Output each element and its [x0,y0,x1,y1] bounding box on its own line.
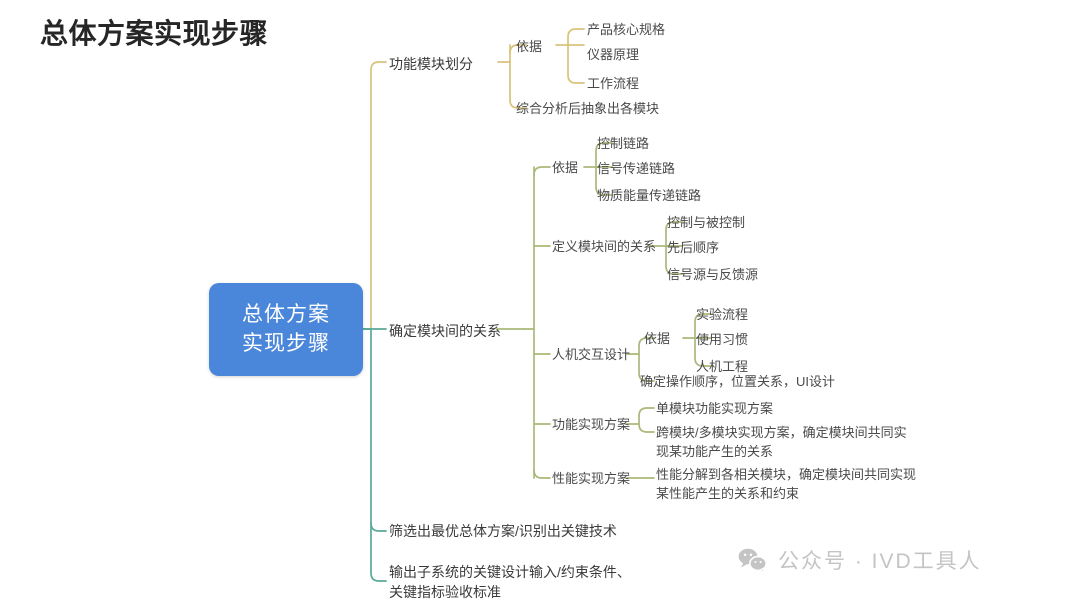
node-b1-abstract-modules[interactable]: 综合分析后抽象出各模块 [516,100,659,119]
node-b1-basis[interactable]: 依据 [516,38,542,57]
node-b2-hmi-design[interactable]: 人机交互设计 [552,346,630,365]
node-b2-hmi-basis[interactable]: 依据 [644,330,670,349]
b1-leaf3 [568,45,584,83]
node-b2-usage-habit[interactable]: 使用习惯 [696,331,748,350]
node-functional-module-division[interactable]: 功能模块划分 [389,54,473,74]
node-b2-matter-energy-link[interactable]: 物质能量传递链路 [597,187,701,206]
b2-c4-leaf1 [639,408,654,416]
node-b2-experiment-flow[interactable]: 实验流程 [696,306,748,325]
node-b2-control-link[interactable]: 控制链路 [597,135,649,154]
node-b2-performance-decomposition[interactable]: 性能分解到各相关模块，确定模块间共同实现某性能产生的关系和约束 [656,466,918,504]
wechat-icon [738,547,768,573]
node-b2-sequence-order[interactable]: 先后顺序 [667,239,719,258]
b1-leaf1 [568,29,584,45]
node-select-optimal-plan[interactable]: 筛选出最优总体方案/识别出关键技术 [389,521,617,541]
node-b1-instrument-principle[interactable]: 仪器原理 [587,46,639,65]
node-b2-signal-transfer-link[interactable]: 信号传递链路 [597,160,675,179]
b2-c1-elbow [534,167,550,175]
root-node-line1: 总体方案 [242,301,330,329]
b2-c5-elbow [534,470,550,478]
node-b2-define-module-relations[interactable]: 定义模块间的关系 [552,238,656,257]
node-output-subsystem-design-input[interactable]: 输出子系统的关键设计输入/约束条件、关键指标验收标准 [389,562,641,603]
node-b2-single-module-function-plan[interactable]: 单模块功能实现方案 [656,400,773,419]
watermark: 公众号 · IVD工具人 [738,545,982,575]
node-b2-cross-module-function-plan[interactable]: 跨模块/多模块实现方案，确定模块间共同实现某功能产生的关系 [656,424,918,462]
root-node-line2: 实现步骤 [242,330,330,358]
root-node[interactable]: 总体方案 实现步骤 [209,283,363,376]
node-b2-performance-realization-plan[interactable]: 性能实现方案 [552,470,630,489]
node-b1-work-flow[interactable]: 工作流程 [587,75,639,94]
page-title: 总体方案实现步骤 [40,12,268,52]
watermark-text: 公众号 · IVD工具人 [778,545,982,575]
node-b2-operation-sequence-ui[interactable]: 确定操作顺序，位置关系，UI设计 [640,373,835,392]
node-b2-signal-feedback-source[interactable]: 信号源与反馈源 [667,266,758,285]
node-b2-basis[interactable]: 依据 [552,159,578,178]
node-b2-control-and-controlled[interactable]: 控制与被控制 [667,214,745,233]
connector-lines [0,0,1080,605]
trunk-branch4 [371,523,386,581]
node-b1-product-core-spec[interactable]: 产品核心规格 [587,21,665,40]
node-b2-function-realization-plan[interactable]: 功能实现方案 [552,416,630,435]
trunk-branch3 [363,329,386,531]
b2-c4-leaf2 [639,416,654,432]
trunk-branch1 [363,62,386,329]
node-determine-module-relations[interactable]: 确定模块间的关系 [389,321,501,341]
